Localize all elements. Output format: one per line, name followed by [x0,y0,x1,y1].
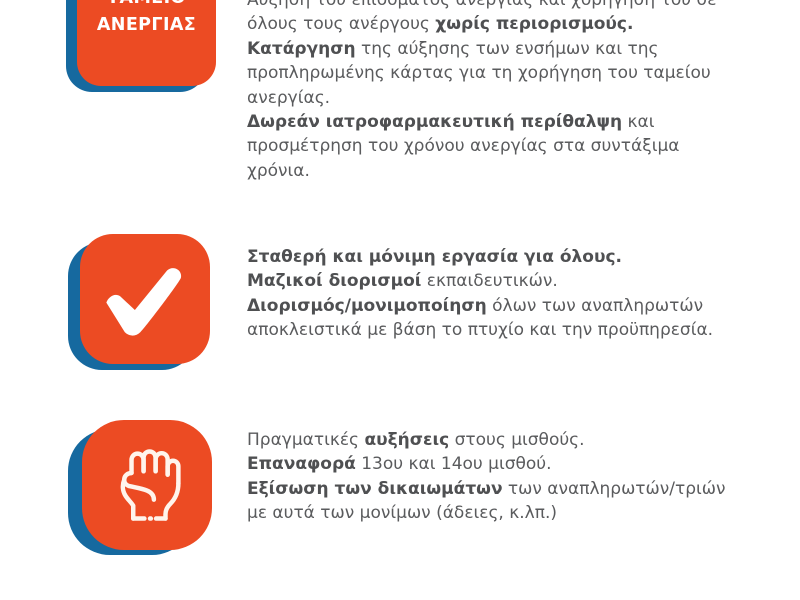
body-text: προπληρωμένης κάρτας για τη χορήγηση του… [247,63,711,83]
text-line: χρόνια. [247,159,767,183]
text-line: προπληρωμένης κάρτας για τη χορήγηση του… [247,61,767,85]
emphasis-text: Διορισμός/μονιμοποίηση [247,296,487,316]
text-block-stable-permanent-work: Σταθερή και μόνιμη εργασία για όλους.Μαζ… [247,245,767,343]
body-text: και [622,112,654,132]
checkmark-glyph [99,253,191,345]
badge-stable-permanent-work [0,228,240,363]
text-line: Σταθερή και μόνιμη εργασία για όλους. [247,245,767,269]
emphasis-text: Εξίσωση των δικαιωμάτων [247,479,503,499]
body-text: της αύξησης των ενσήμων και της [356,39,659,59]
text-line: Επαναφορά 13ου και 14ου μισθού. [247,452,767,476]
text-line: Διορισμός/μονιμοποίηση όλων των αναπληρω… [247,294,767,318]
unemployment-fund-badge: ΤΑΜΕΙΟ ΑΝΕΡΓΙΑΣ [77,0,216,86]
emphasis-text: Μαζικοί διορισμοί [247,271,421,291]
text-line: Κατάργηση της αύξησης των ενσήμων και τη… [247,37,767,61]
badge-unemployment-fund: ΤΑΜΕΙΟ ΑΝΕΡΓΙΑΣ [0,0,240,100]
emphasis-text: αυξήσεις [364,430,449,450]
body-text: στους μισθούς. [449,430,584,450]
text-block-wages-rights: Πραγματικές αυξήσεις στους μισθούς.Επανα… [247,428,767,526]
body-text: 13ου και 14ου μισθού. [356,454,552,474]
body-text: όλους τους ανέργους [247,14,435,34]
emphasis-text: Επαναφορά [247,454,356,474]
raised-fist-glyph [104,442,190,528]
body-text: προσμέτρηση του χρόνου ανεργίας στα συντ… [247,136,680,156]
emphasis-text: χωρίς περιορισμούς. [435,14,633,34]
body-text: αποκλειστικά με βάση το πτυχίο και την π… [247,320,713,340]
text-line: αποκλειστικά με βάση το πτυχίο και την π… [247,318,767,342]
text-line: Δωρεάν ιατροφαρμακευτική περίθαλψη και [247,110,767,134]
text-line: Μαζικοί διορισμοί εκπαιδευτικών. [247,269,767,293]
text-line: Αύξηση του επιδόματος ανεργίας και χορήγ… [247,0,767,12]
body-text: Αύξηση του επιδόματος ανεργίας και χορήγ… [247,0,716,10]
body-text: όλων των αναπληρωτών [487,296,703,316]
checkmark-icon [80,234,210,364]
text-block-unemployment-fund: Αύξηση του επιδόματος ανεργίας και χορήγ… [247,0,767,183]
body-text: Πραγματικές [247,430,364,450]
poster-canvas: ΤΑΜΕΙΟ ΑΝΕΡΓΙΑΣ Αύξηση του επιδόματος αν… [0,0,800,600]
emphasis-text: Κατάργηση [247,39,356,59]
raised-fist-icon [82,420,212,550]
text-line: Εξίσωση των δικαιωμάτων των αναπληρωτών/… [247,477,767,501]
badge-label: ΤΑΜΕΙΟ ΑΝΕΡΓΙΑΣ [97,0,196,39]
body-text: των αναπληρωτών/τριών [503,479,726,499]
body-text: με αυτά των μονίμων (άδειες, κ.λπ.) [247,503,557,523]
text-line: ανεργίας. [247,86,767,110]
emphasis-text: Σταθερή και μόνιμη εργασία για όλους. [247,247,622,267]
emphasis-text: Δωρεάν ιατροφαρμακευτική περίθαλψη [247,112,622,132]
text-line: με αυτά των μονίμων (άδειες, κ.λπ.) [247,501,767,525]
body-text: ανεργίας. [247,88,330,108]
badge-wages-rights [0,412,240,552]
body-text: χρόνια. [247,161,310,181]
text-line: όλους τους ανέργους χωρίς περιορισμούς. [247,12,767,36]
body-text: εκπαιδευτικών. [421,271,557,291]
text-line: προσμέτρηση του χρόνου ανεργίας στα συντ… [247,134,767,158]
text-line: Πραγματικές αυξήσεις στους μισθούς. [247,428,767,452]
